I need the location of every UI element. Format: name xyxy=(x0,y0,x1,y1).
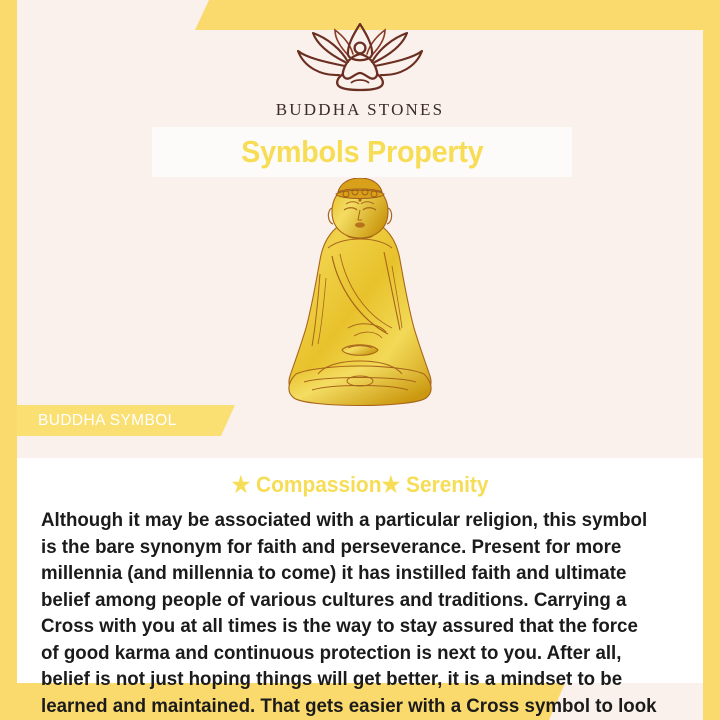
content-card: ★ Compassion★ Serenity Although it may b… xyxy=(17,458,703,683)
golden-seated-buddha-statue-icon xyxy=(260,178,460,423)
category-badge: BUDDHA SYMBOL xyxy=(17,405,235,436)
section-subheading: ★ Compassion★ Serenity xyxy=(57,472,663,498)
page-title: Symbols Property xyxy=(241,134,483,170)
brand-logo: BUDDHA STONES xyxy=(0,22,720,120)
lotus-meditation-icon xyxy=(285,22,435,94)
brand-name: BUDDHA STONES xyxy=(276,100,445,120)
title-bar: Symbols Property xyxy=(152,127,572,177)
statue-illustration xyxy=(0,178,720,423)
poster-canvas: BUDDHA STONES Symbols Property xyxy=(0,0,720,720)
category-badge-label: BUDDHA SYMBOL xyxy=(38,412,177,430)
section-body-text: Although it may be associated with a par… xyxy=(41,507,657,720)
